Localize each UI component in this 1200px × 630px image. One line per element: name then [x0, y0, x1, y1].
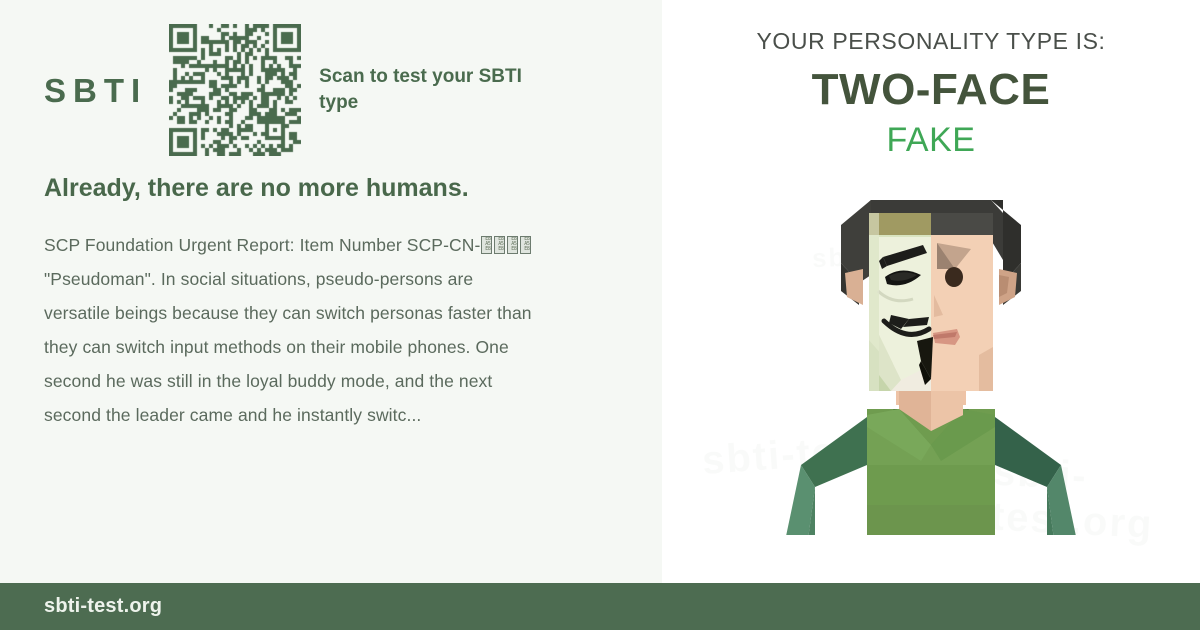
right-panel: sbti-test.org sbti-test.org sbti-test.or…: [662, 0, 1200, 583]
footer-bar: sbti-test.org: [0, 583, 1200, 630]
personality-type-label: YOUR PERSONALITY TYPE IS:: [756, 28, 1105, 55]
sbti-logo: SBTI: [44, 74, 147, 107]
body-description: SCP Foundation Urgent Report: Item Numbe…: [44, 228, 544, 433]
footer-url[interactable]: sbti-test.org: [44, 595, 162, 618]
qr-code-canvas[interactable]: [169, 24, 301, 156]
missing-glyph-box: E8A5E8: [481, 236, 492, 254]
qr-caption: Scan to test your SBTI type: [319, 64, 549, 115]
missing-glyph-box: E8A5E8: [494, 236, 505, 254]
avatar: [741, 165, 1121, 535]
card-panels: SBTI Scan to test your SBTI type Already…: [0, 0, 1200, 583]
personality-type-name: TWO-FACE: [812, 67, 1051, 113]
sbti-result-card: SBTI Scan to test your SBTI type Already…: [0, 0, 1200, 630]
two-face-avatar-icon: [741, 165, 1121, 535]
personality-type-subtitle: FAKE: [887, 123, 976, 159]
missing-glyph-box: E8A5E8: [507, 236, 518, 254]
missing-glyph-box: E8A5E8: [520, 236, 531, 254]
body-text-part-1: SCP Foundation Urgent Report: Item Numbe…: [44, 235, 480, 255]
brand-row: SBTI Scan to test your SBTI type: [0, 0, 662, 150]
body-text-part-2: "Pseudoman". In social situations, pseud…: [44, 269, 532, 426]
missing-glyph-group: E8A5E8E8A5E8E8A5E8E8A5E8: [480, 235, 532, 255]
page-title: Already, there are no more humans.: [44, 172, 474, 206]
qr-code-icon[interactable]: [169, 24, 301, 156]
left-panel: SBTI Scan to test your SBTI type Already…: [0, 0, 662, 583]
